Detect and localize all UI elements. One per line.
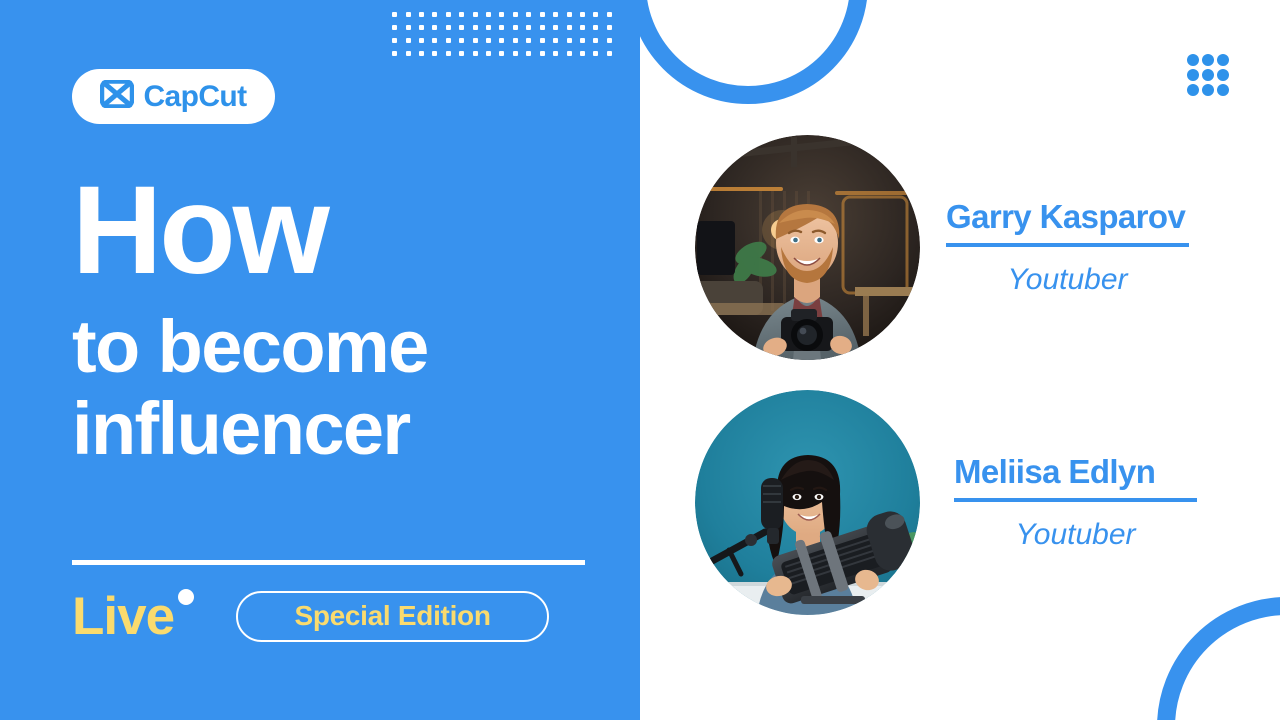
speaker-name-underline — [946, 243, 1189, 247]
headline-line-2: to become — [72, 306, 617, 389]
live-label: Live — [72, 590, 174, 643]
speaker-name: Meliisa Edlyn — [954, 454, 1197, 490]
promo-banner: CapCut How to become influencer Live Spe… — [0, 0, 1280, 720]
arc-bottom-right-icon — [1157, 597, 1280, 720]
special-edition-label: Special Edition — [294, 602, 490, 630]
live-label-wrap: Live — [72, 590, 174, 643]
speaker-role: Youtuber — [954, 518, 1197, 551]
headline-line-1: How — [72, 172, 617, 290]
avatar-garry-kasparov — [695, 135, 920, 360]
speaker-card-1[interactable]: Garry Kasparov Youtuber — [695, 135, 1189, 360]
speaker-name: Garry Kasparov — [946, 199, 1189, 235]
speaker-meta-2: Meliisa Edlyn Youtuber — [954, 454, 1197, 551]
speaker-meta-1: Garry Kasparov Youtuber — [946, 199, 1189, 296]
headline-line-3: influencer — [72, 388, 617, 471]
special-edition-badge[interactable]: Special Edition — [236, 591, 549, 642]
avatar-meliisa-edlyn — [695, 390, 920, 615]
live-status-dot-icon — [178, 589, 194, 605]
dot-grid-icon-white — [388, 8, 616, 60]
page-title: How to become influencer — [72, 172, 617, 471]
capcut-hourglass-icon — [100, 80, 134, 113]
speaker-name-underline — [954, 498, 1197, 502]
speaker-role: Youtuber — [946, 263, 1189, 296]
capcut-wordmark: CapCut — [143, 82, 246, 112]
dot-grid-icon-blue — [1185, 52, 1231, 98]
speaker-card-2[interactable]: Meliisa Edlyn Youtuber — [695, 390, 1197, 615]
headline-divider — [72, 560, 585, 565]
arc-top-right-icon — [628, 0, 868, 104]
capcut-logo[interactable]: CapCut — [72, 69, 275, 124]
live-row: Live Special Edition — [72, 586, 592, 646]
